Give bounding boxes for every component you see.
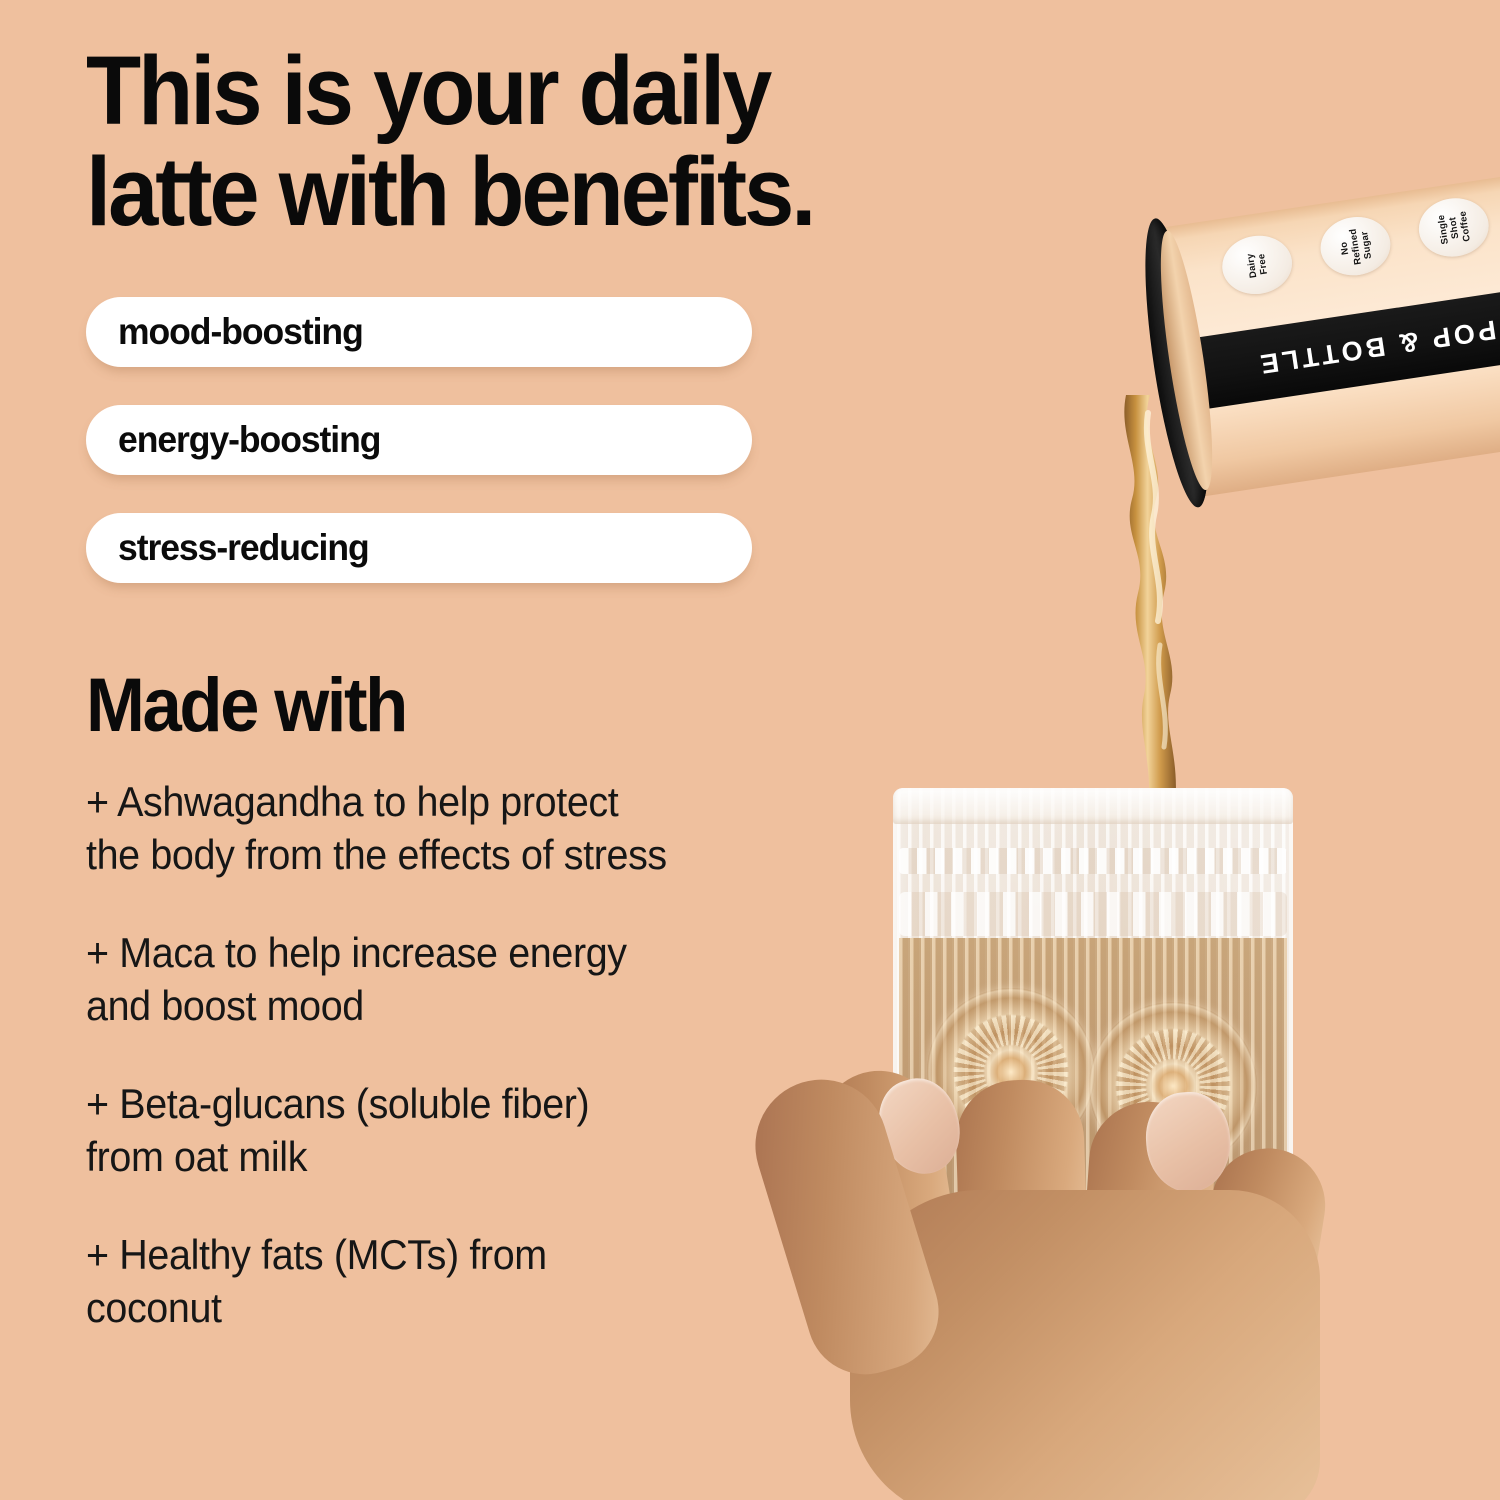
benefit-pill-stress-reducing: stress-reducing [86,513,752,583]
badge-single-shot-coffee-label: Single Shot Coffee [1435,210,1472,245]
ingredient-item-ashwagandha: + Ashwagandha to help protect the body f… [86,775,838,881]
benefit-pill-energy-boosting: energy-boosting [86,405,752,475]
product-can: Dairy Free No Refined Sugar Single Shot … [1124,143,1500,553]
ingredient-item-beta-glucans: + Beta-glucans (soluble fiber) from oat … [86,1077,838,1183]
benefit-pill-mood-boosting: mood-boosting [86,297,752,367]
badge-no-refined-sugar-label: No Refined Sugar [1336,226,1374,267]
glass-rim [893,788,1293,824]
ad-creative: Dairy Free No Refined Sugar Single Shot … [0,0,1500,1500]
page-title: This is your daily latte with benefits. [86,40,886,242]
ingredient-list: + Ashwagandha to help protect the body f… [86,775,886,1379]
badge-dairy-free-label: Dairy Free [1244,251,1269,279]
benefit-pill-list: mood-boosting energy-boosting stress-red… [86,297,752,621]
benefit-pill-label: mood-boosting [118,311,363,353]
ingredient-item-healthy-fats: + Healthy fats (MCTs) from coconut [86,1228,838,1334]
glass-bead-band-upper [899,848,1287,874]
ingredient-item-maca: + Maca to help increase energy and boost… [86,926,838,1032]
made-with-heading: Made with [86,665,406,747]
glass-bead-band-lower [899,892,1287,936]
benefit-pill-label: stress-reducing [118,527,369,569]
benefit-pill-label: energy-boosting [118,419,380,461]
